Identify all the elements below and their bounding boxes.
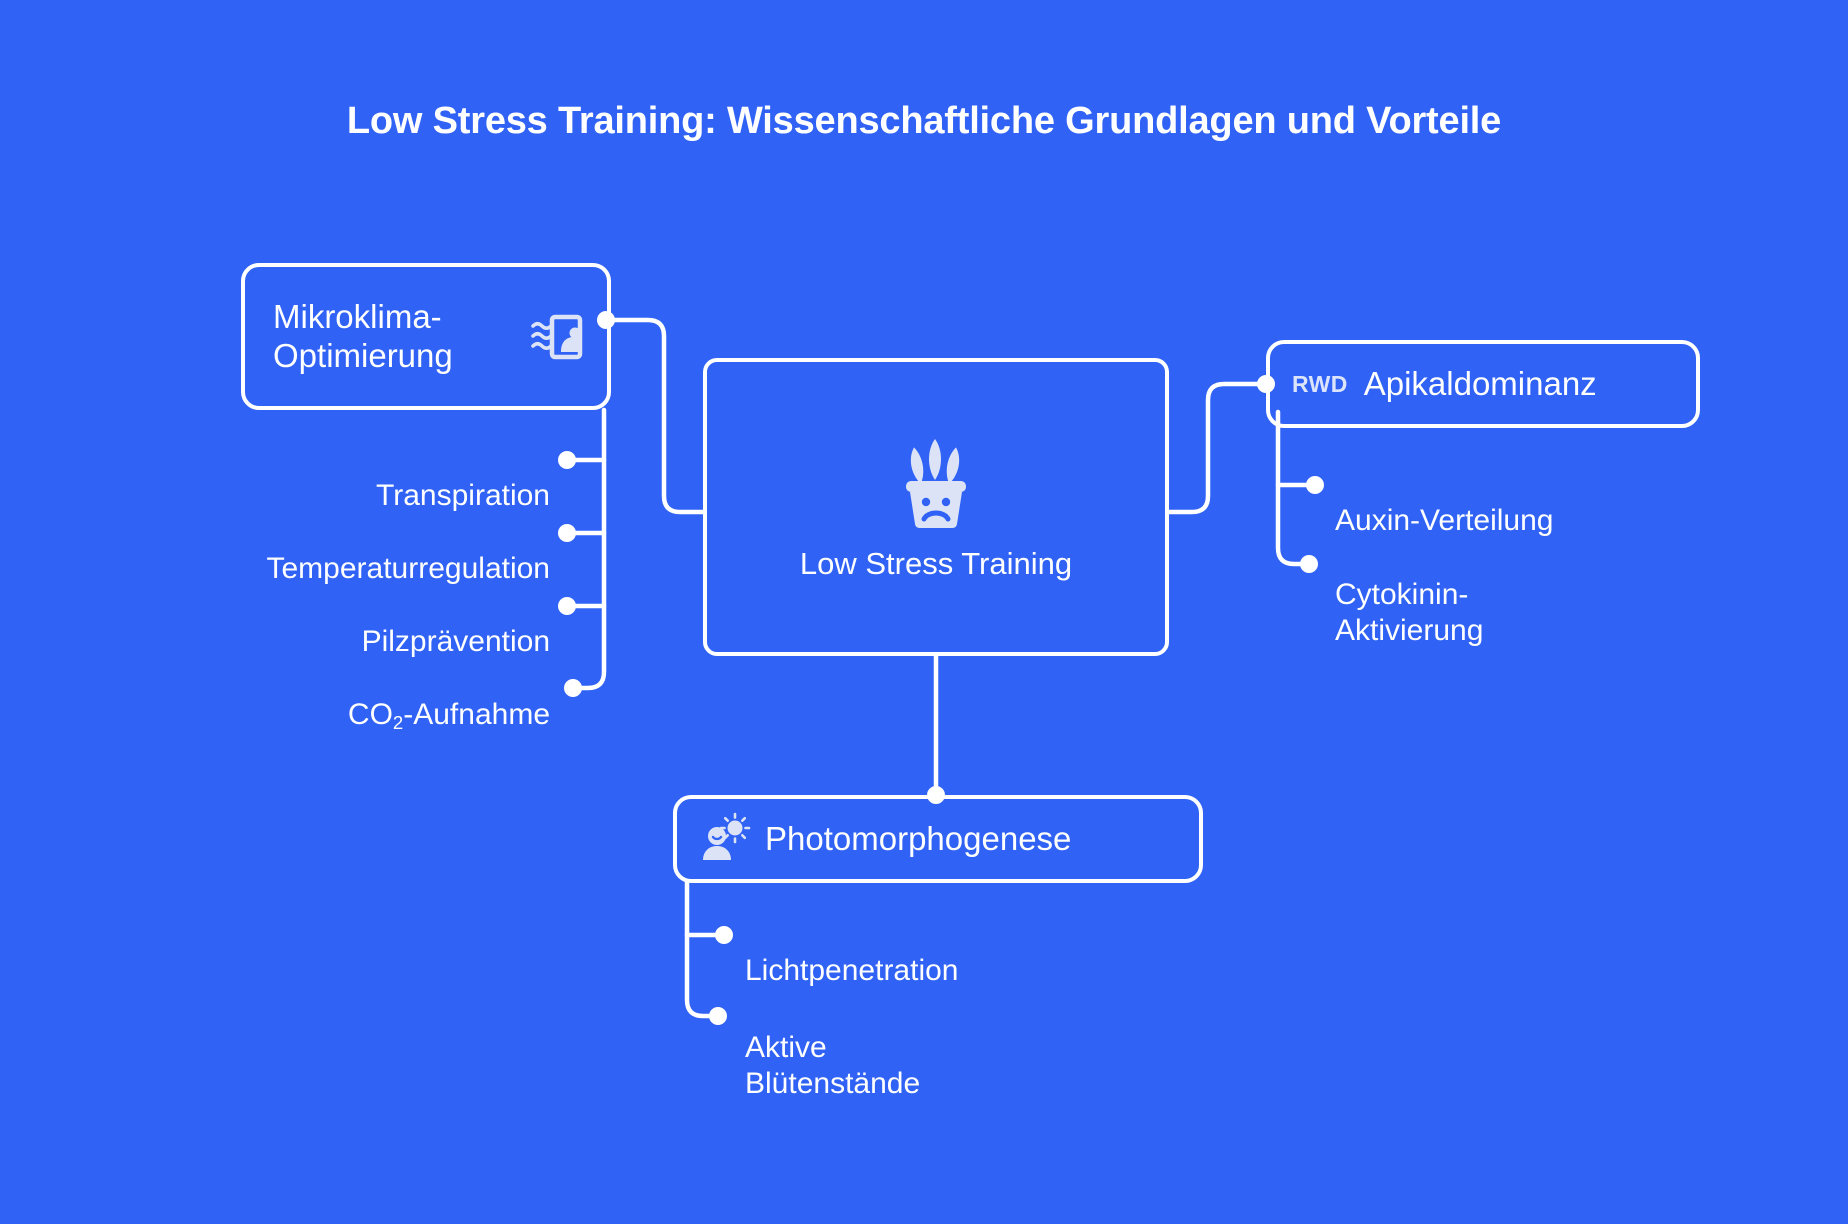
leaf-transpiration: Transpiration [100, 441, 550, 514]
rwd-badge-icon: RWD [1292, 373, 1348, 396]
leaf-pilzpraevention-label: Pilzprävention [362, 625, 550, 658]
mindmap-canvas: Low Stress Training: Wissenschaftliche G… [0, 0, 1848, 1224]
wire-dot-aktive [709, 1007, 727, 1025]
sad-plant-pot-icon [888, 432, 984, 528]
branch-node-apical-dominance-label: Apikaldominanz [1364, 365, 1597, 404]
leaf-auxin-verteilung-label: Auxin-Verteilung [1335, 504, 1553, 537]
branch-node-microclimate[interactable]: Mikroklima- Optimierung [241, 263, 611, 410]
wire-dot-transpiration [558, 451, 576, 469]
wire-center-to-apical [1169, 384, 1261, 512]
wire-dot-co2 [564, 679, 582, 697]
person-sun-icon [699, 812, 753, 866]
leaf-temperaturregulation-label: Temperaturregulation [267, 552, 551, 585]
leaf-auxin-verteilung: Auxin-Verteilung [1335, 466, 1795, 539]
leaf-transpiration-label: Transpiration [376, 479, 550, 512]
leaf-co2-subscript: 2 [393, 712, 403, 733]
branch-node-photomorphogenesis-label: Photomorphogenese [765, 820, 1071, 859]
wire-dot-temperature [558, 524, 576, 542]
center-node-label: Low Stress Training [800, 546, 1072, 582]
leaf-co2-prefix: CO [348, 698, 393, 731]
leaf-cytokinin-aktivierung: Cytokinin- Aktivierung [1335, 540, 1795, 650]
wire-photo-spine [687, 882, 713, 1016]
page-title: Low Stress Training: Wissenschaftliche G… [0, 100, 1848, 143]
leaf-pilzpraevention: Pilzprävention [100, 587, 550, 660]
leaf-lichtpenetration-label: Lichtpenetration [745, 954, 959, 987]
leaf-aktive-bluetenstaende-label: Aktive Blütenstände [745, 1031, 920, 1101]
wire-center-to-microclimate [611, 320, 703, 512]
leaf-aktive-bluetenstaende: Aktive Blütenstände [745, 993, 1245, 1103]
wire-microclimate-spine [578, 410, 604, 688]
leaf-co2-suffix: -Aufnahme [403, 698, 550, 731]
branch-node-apical-dominance[interactable]: RWD Apikaldominanz [1266, 340, 1700, 428]
branch-node-photomorphogenesis[interactable]: Photomorphogenese [673, 795, 1203, 883]
wire-dot-pilz [558, 597, 576, 615]
leaf-temperaturregulation: Temperaturregulation [60, 514, 550, 587]
leaf-co2-aufnahme: CO2-Aufnahme [100, 660, 550, 734]
wire-dot-auxin [1306, 476, 1324, 494]
branch-node-microclimate-label: Mikroklima- Optimierung [273, 298, 527, 376]
center-node[interactable]: Low Stress Training [703, 358, 1169, 656]
leaf-co2-aufnahme-label: CO2-Aufnahme [348, 698, 550, 731]
leaf-cytokinin-aktivierung-label: Cytokinin- Aktivierung [1335, 578, 1483, 648]
air-flow-fan-icon [527, 306, 589, 368]
leaf-lichtpenetration: Lichtpenetration [745, 916, 1245, 989]
wire-dot-cytokinin [1300, 555, 1318, 573]
wire-apical-spine [1278, 412, 1304, 564]
wire-dot-licht [715, 926, 733, 944]
